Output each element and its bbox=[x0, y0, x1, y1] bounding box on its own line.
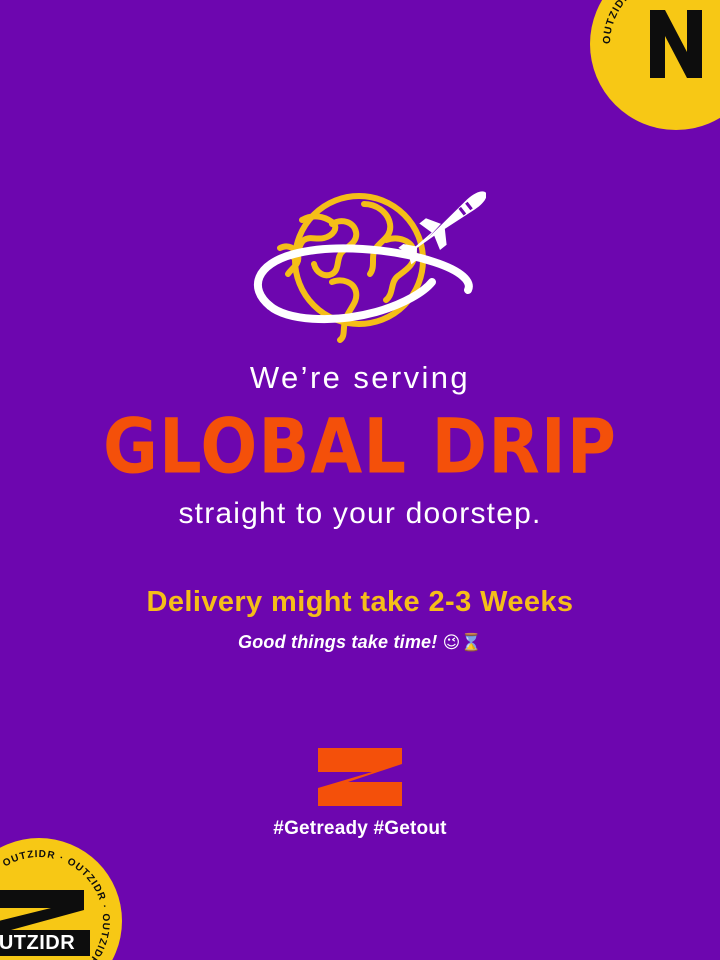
badge-wordmark-text: OUTZIDR bbox=[0, 932, 75, 954]
eyebrow-text: We’re serving bbox=[0, 360, 720, 396]
badge-bottom-left: OUTZIDR OUTZIDR · OUTZIDR · OUTZIDR · OU… bbox=[0, 838, 122, 960]
tagline-text: Good things take time! bbox=[238, 632, 437, 652]
globe-airplane-illustration bbox=[236, 178, 486, 343]
tagline-emoji: 😉⌛ bbox=[443, 633, 482, 653]
hashtags-text: #Getready #Getout bbox=[0, 818, 720, 840]
delivery-notice-text: Delivery might take 2-3 Weeks bbox=[0, 585, 720, 620]
tagline-row: Good things take time! 😉⌛ bbox=[0, 632, 720, 654]
badge-top-right: OUTZIDR · OUTZIDR · OUTZIDR · OUTZIDR · bbox=[590, 0, 720, 130]
orbit-swoosh-icon bbox=[258, 248, 469, 306]
poster-canvas: OUTZIDR · OUTZIDR · OUTZIDR · OUTZIDR · … bbox=[0, 0, 720, 960]
footer-block: #Getready #Getout bbox=[0, 748, 720, 840]
subhead-text: straight to your doorstep. bbox=[0, 497, 720, 532]
outzidr-z-logo bbox=[318, 748, 402, 806]
badge-wordmark-plaque: OUTZIDR bbox=[0, 930, 90, 956]
headline-text: GLOBAL DRIP bbox=[0, 408, 720, 485]
copy-block: We’re serving GLOBAL DRIP straight to yo… bbox=[0, 360, 720, 654]
badge-monogram-top-right bbox=[650, 10, 702, 78]
